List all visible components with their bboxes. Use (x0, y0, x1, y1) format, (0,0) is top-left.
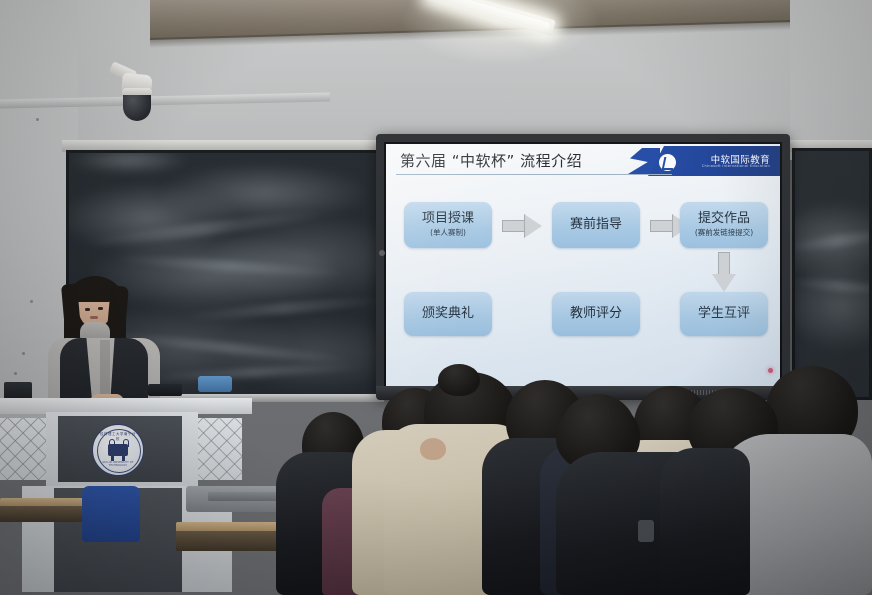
title-underline (396, 174, 672, 175)
podium-side-panel-left (0, 418, 46, 480)
flow-box-label: 教师评分 (570, 307, 622, 321)
desk-bag-shade (208, 492, 278, 501)
presenter-eye (85, 308, 90, 311)
presenter-eye (98, 307, 103, 310)
display-power-led (768, 368, 773, 373)
flow-box-label: 项目授课 (422, 212, 474, 226)
podium-side-panel-right (196, 418, 242, 480)
camera-dome (123, 95, 151, 121)
arrow-left-icon (502, 302, 542, 326)
emblem-en-text: GUILIN UNIVERSITY OF TECHNOLOGY (100, 461, 136, 467)
flow-box-project-teaching[interactable]: 项目授课 (单人赛制) (404, 202, 492, 248)
wall-mark (36, 118, 39, 121)
wall-mark (30, 300, 33, 303)
flow-box-teacher-scoring[interactable]: 教师评分 (552, 292, 640, 336)
brand-bar: 中软国际教育 Chinasoft International Education (648, 146, 780, 176)
arrow-down-icon (712, 252, 736, 292)
flow-box-label: 学生互评 (698, 307, 750, 321)
blackboard-right (792, 148, 872, 400)
presentation-slide: 中软国际教育 Chinasoft International Education… (386, 144, 780, 386)
flow-box-label: 赛前指导 (570, 218, 622, 232)
ding-vessel-icon (106, 439, 130, 461)
podium-device (148, 384, 182, 396)
chinasoft-logo-icon (659, 154, 676, 171)
display-side-button[interactable] (379, 250, 385, 256)
flow-box-award-ceremony[interactable]: 颁奖典礼 (404, 292, 492, 336)
flow-box-label: 提交作品 (698, 212, 750, 226)
arrow-right-icon (502, 214, 542, 238)
student-body (660, 448, 750, 595)
podium-blue-object (198, 376, 232, 392)
jacket-logo (638, 520, 654, 542)
right-wall (790, 0, 872, 150)
chair-back (82, 486, 140, 542)
presenter-mouth (90, 316, 98, 319)
wall-mark (14, 372, 17, 375)
flow-box-label: 颁奖典礼 (422, 307, 474, 321)
flow-box-peer-review[interactable]: 学生互评 (680, 292, 768, 336)
student-hair-bun (438, 364, 480, 396)
classroom-photo-scene: 中软国际教育 Chinasoft International Education… (0, 0, 872, 595)
flow-box-submit-work[interactable]: 提交作品 (赛前发链接提交) (680, 202, 768, 248)
student-hand (420, 438, 446, 460)
security-camera-icon (110, 60, 156, 122)
wall-mark (22, 352, 25, 355)
brand-name-en: Chinasoft International Education (702, 164, 770, 168)
university-emblem: 桂林理工大学南宁分校 GUILIN UNIVERSITY OF TECHNOLO… (92, 424, 144, 476)
flow-box-pre-contest-guidance[interactable]: 赛前指导 (552, 202, 640, 248)
flow-box-sublabel: (赛前发链接提交) (695, 227, 753, 238)
flow-box-sublabel: (单人赛制) (430, 227, 466, 238)
slide-title: 第六届 “中软杯” 流程介绍 (400, 150, 582, 171)
